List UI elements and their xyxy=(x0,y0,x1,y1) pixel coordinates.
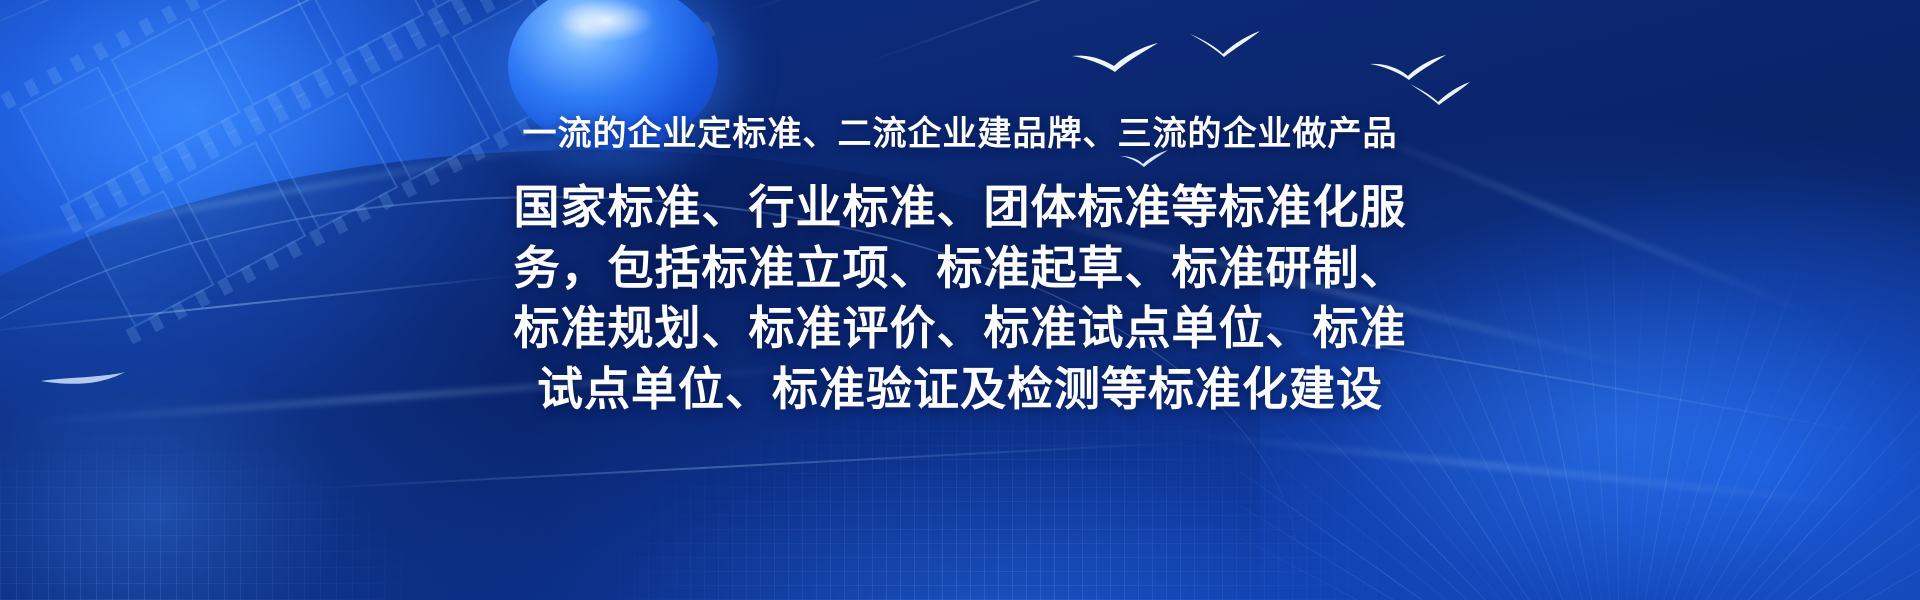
circuit-grid-left-icon xyxy=(0,430,420,600)
body-copy: 国家标准、行业标准、团体标准等标准化服 务，包括标准立项、标准起草、标准研制、 … xyxy=(450,177,1470,420)
headline: 一流的企业定标准、二流企业建品牌、三流的企业做产品 xyxy=(0,0,1920,155)
body-line-4: 试点单位、标准验证及检测等标准化建设 xyxy=(450,359,1470,420)
circuit-grid-icon xyxy=(620,400,1380,600)
body-line-2: 务，包括标准立项、标准起草、标准研制、 xyxy=(450,238,1470,299)
body-line-1: 国家标准、行业标准、团体标准等标准化服 xyxy=(450,177,1470,238)
banner-text: 一流的企业定标准、二流企业建品牌、三流的企业做产品 国家标准、行业标准、团体标准… xyxy=(0,0,1920,420)
promo-banner: 一流的企业定标准、二流企业建品牌、三流的企业做产品 国家标准、行业标准、团体标准… xyxy=(0,0,1920,600)
body-line-3: 标准规划、标准评价、标准试点单位、标准 xyxy=(450,298,1470,359)
